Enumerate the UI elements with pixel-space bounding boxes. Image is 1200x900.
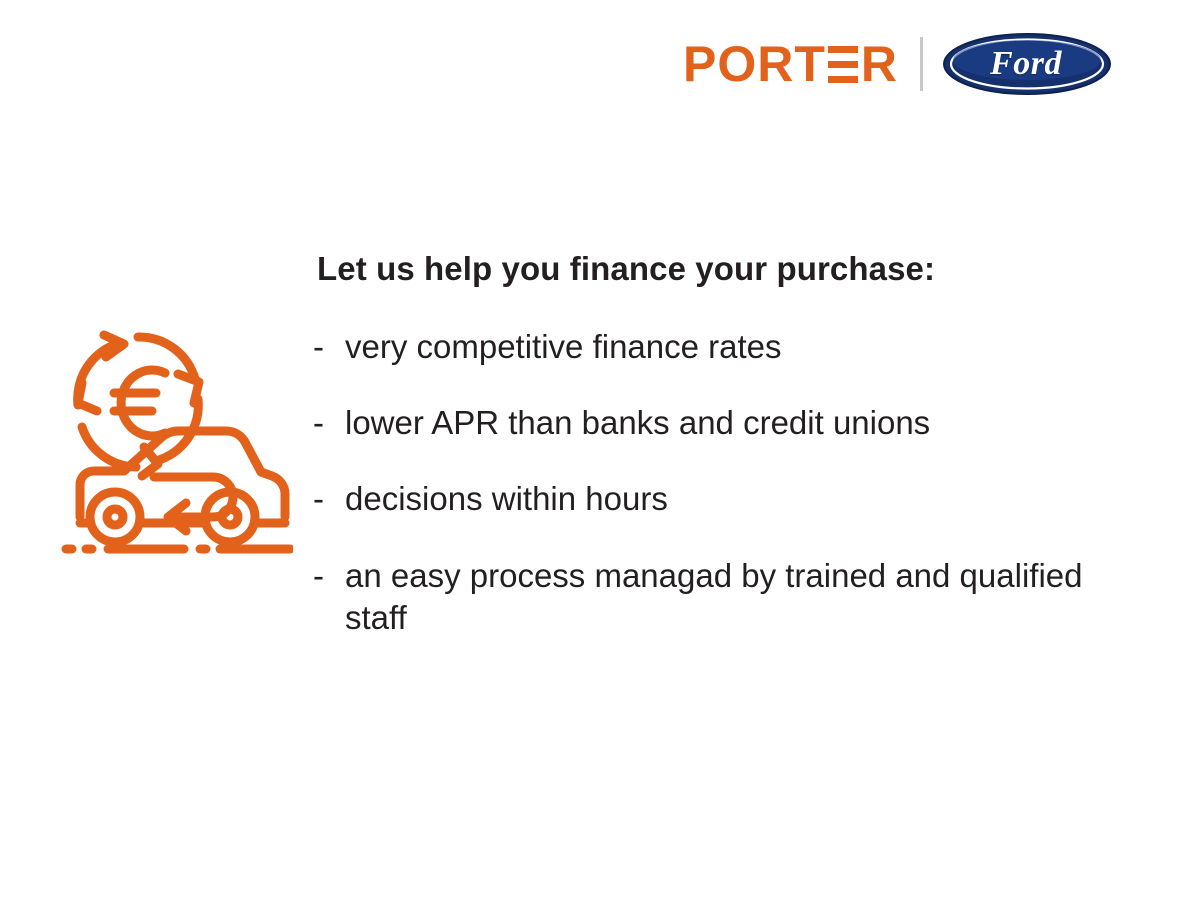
list-item-label: decisions within hours	[345, 478, 1103, 520]
bullet-dash-icon: -	[313, 326, 345, 368]
finance-content: Let us help you finance your purchase: -…	[313, 250, 1103, 639]
brand-logo-lockup: PORT R Ford	[683, 30, 1111, 98]
list-item: - decisions within hours	[313, 478, 1103, 520]
euro-symbol-icon	[114, 370, 165, 436]
page-title: Let us help you finance your purchase:	[317, 250, 1103, 288]
finance-benefits-list: - very competitive finance rates - lower…	[313, 326, 1103, 639]
list-item: - an easy process managad by trained and…	[313, 555, 1103, 639]
porter-e-bar-top	[828, 46, 858, 53]
bullet-dash-icon: -	[313, 402, 345, 444]
porter-wordmark-suffix: R	[861, 39, 898, 89]
list-item: - very competitive finance rates	[313, 326, 1103, 368]
list-item-label: lower APR than banks and credit unions	[345, 402, 1103, 444]
bullet-dash-icon: -	[313, 478, 345, 520]
car-euro-finance-icon	[58, 327, 293, 565]
list-item-label: very competitive finance rates	[345, 326, 1103, 368]
logo-divider	[920, 37, 923, 91]
porter-e-glyph-icon	[828, 46, 858, 83]
porter-e-bar-bottom	[828, 76, 858, 83]
porter-e-bar-middle	[828, 61, 858, 68]
slide-canvas: PORT R Ford	[0, 0, 1200, 900]
ford-script-text: Ford	[943, 33, 1111, 95]
list-item: - lower APR than banks and credit unions	[313, 402, 1103, 444]
list-item-label: an easy process managad by trained and q…	[345, 555, 1103, 639]
porter-wordmark: PORT R	[683, 38, 898, 90]
ford-logo: Ford	[943, 33, 1111, 95]
porter-wordmark-prefix: PORT	[683, 39, 826, 89]
car-euro-finance-svg	[58, 327, 293, 565]
bullet-dash-icon: -	[313, 555, 345, 597]
